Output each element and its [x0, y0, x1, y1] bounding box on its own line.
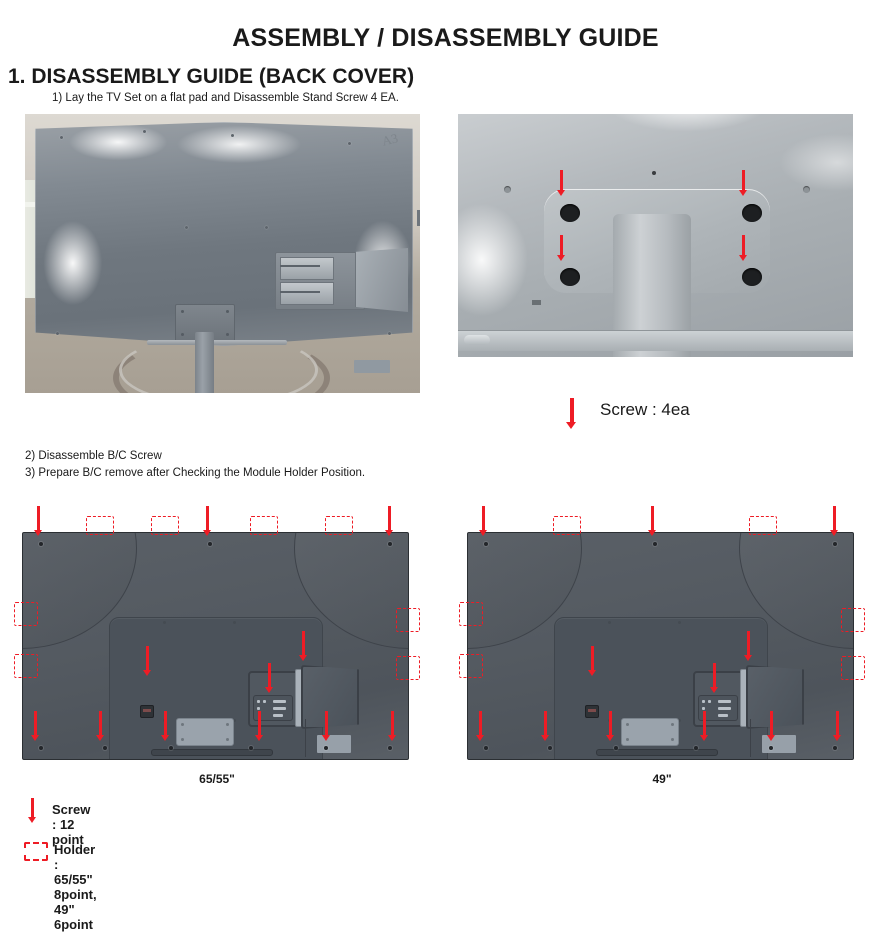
mount-dot — [163, 621, 166, 624]
diagram-caption-49: 49" — [457, 772, 867, 786]
screw-arrow — [265, 663, 274, 693]
vesa-plate — [621, 718, 679, 746]
port-block — [280, 282, 334, 305]
rail-cap — [464, 335, 490, 345]
screw-arrow — [322, 711, 331, 741]
page-title: ASSEMBLY / DISASSEMBLY GUIDE — [0, 24, 891, 53]
tv-diagram-49: 49" — [457, 506, 867, 791]
screw-arrow — [385, 506, 394, 536]
screw-arrow — [388, 711, 397, 741]
screw-arrow — [476, 711, 485, 741]
screw-arrow — [541, 711, 550, 741]
tv-back-panel — [467, 532, 854, 760]
screw-arrow — [767, 711, 776, 741]
service-manual-page: ASSEMBLY / DISASSEMBLY GUIDE 1. DISASSEM… — [0, 0, 891, 871]
connector-bay — [275, 252, 365, 310]
screw-arrow — [739, 235, 748, 261]
screw-arrow — [588, 646, 597, 676]
module-holder-marker — [325, 516, 353, 535]
module-holder-marker — [151, 516, 179, 535]
screw-arrow — [830, 506, 839, 536]
dc-jack — [140, 705, 154, 718]
stand-screw-hole — [560, 268, 580, 286]
screw-arrow — [700, 711, 709, 741]
stand-neck — [195, 332, 214, 393]
cable-route — [750, 719, 751, 757]
screw-arrow — [479, 506, 488, 536]
module-holder-marker — [396, 656, 420, 680]
module-holder-marker — [841, 608, 865, 632]
screw-hole — [265, 226, 268, 229]
bottom-rail — [596, 749, 718, 756]
stand-screw-hole — [742, 268, 762, 286]
screw-arrow — [96, 711, 105, 741]
arrow-icon — [566, 398, 577, 430]
step-3-text: 3) Prepare B/C remove after Checking the… — [25, 467, 365, 479]
side-tab — [417, 210, 420, 226]
port-block — [280, 257, 334, 280]
mount-dot — [233, 621, 236, 624]
mount-dot — [608, 621, 611, 624]
module-holder-marker — [749, 516, 777, 535]
screw-arrow — [255, 711, 264, 741]
screw-arrow — [161, 711, 170, 741]
vesa-plate — [176, 718, 234, 746]
holder-marker-icon — [24, 842, 48, 861]
module-holder-marker — [553, 516, 581, 535]
screw-arrow — [557, 170, 566, 196]
screw-hole — [388, 332, 391, 335]
tv-diagram-65-55: 65/55" — [12, 506, 422, 791]
screw-arrow — [299, 631, 308, 661]
dc-jack — [585, 705, 599, 718]
module-holder-marker — [841, 656, 865, 680]
mount-dot — [678, 621, 681, 624]
step-1-text: 1) Lay the TV Set on a flat pad and Disa… — [52, 92, 399, 104]
screw-arrow — [648, 506, 657, 536]
module-holder-marker — [459, 602, 483, 626]
screw-arrow — [710, 663, 719, 693]
bottom-rail — [458, 330, 853, 351]
screw-arrow — [203, 506, 212, 536]
module-holder-marker — [14, 602, 38, 626]
port-divider — [280, 265, 320, 267]
screw-hole — [56, 332, 59, 335]
module-holder-marker — [250, 516, 278, 535]
screw-hole — [185, 226, 188, 229]
screw-arrow — [143, 646, 152, 676]
center-dot — [652, 171, 656, 175]
screw-arrow — [557, 235, 566, 261]
step-2-text: 2) Disassemble B/C Screw — [25, 450, 162, 462]
diagram-caption-65-55: 65/55" — [12, 772, 422, 786]
stand-screw-hole — [560, 204, 580, 222]
module-holder-marker — [14, 654, 38, 678]
stand-crossbar — [147, 340, 287, 345]
tv-back-panel — [22, 532, 409, 760]
legend-screw-label: Screw : 12 point — [52, 802, 90, 847]
screw-arrow — [833, 711, 842, 741]
port-divider — [280, 291, 320, 293]
screw-hole — [231, 134, 234, 137]
screw-arrow — [606, 711, 615, 741]
pilot-hole — [504, 186, 511, 193]
legend-holder-label: Holder : 65/55" 8point, 49" 6point — [54, 842, 97, 932]
cable-route — [305, 719, 306, 757]
arrow-icon — [28, 798, 37, 824]
screw-4ea-label: Screw : 4ea — [600, 400, 690, 420]
module-holder-marker — [459, 654, 483, 678]
tv-back-photo: A3 — [25, 114, 420, 393]
cable-cover-flap — [355, 248, 408, 312]
screw-4ea-callout: Screw : 4ea — [562, 398, 762, 432]
module-holder-marker — [86, 516, 114, 535]
screw-arrow — [34, 506, 43, 536]
stand-mount-photo — [458, 114, 853, 357]
label-plate — [354, 360, 390, 373]
screw-arrow — [31, 711, 40, 741]
vent-slot — [532, 300, 541, 305]
section-title: 1. DISASSEMBLY GUIDE (BACK COVER) — [8, 65, 414, 89]
screw-arrow — [744, 631, 753, 661]
screw-arrow — [739, 170, 748, 196]
bottom-rail — [151, 749, 273, 756]
screw-hole — [143, 130, 146, 133]
stand-screw-hole — [742, 204, 762, 222]
pilot-hole — [803, 186, 810, 193]
module-holder-marker — [396, 608, 420, 632]
screw-hole — [60, 136, 63, 139]
screw-hole — [348, 142, 351, 145]
